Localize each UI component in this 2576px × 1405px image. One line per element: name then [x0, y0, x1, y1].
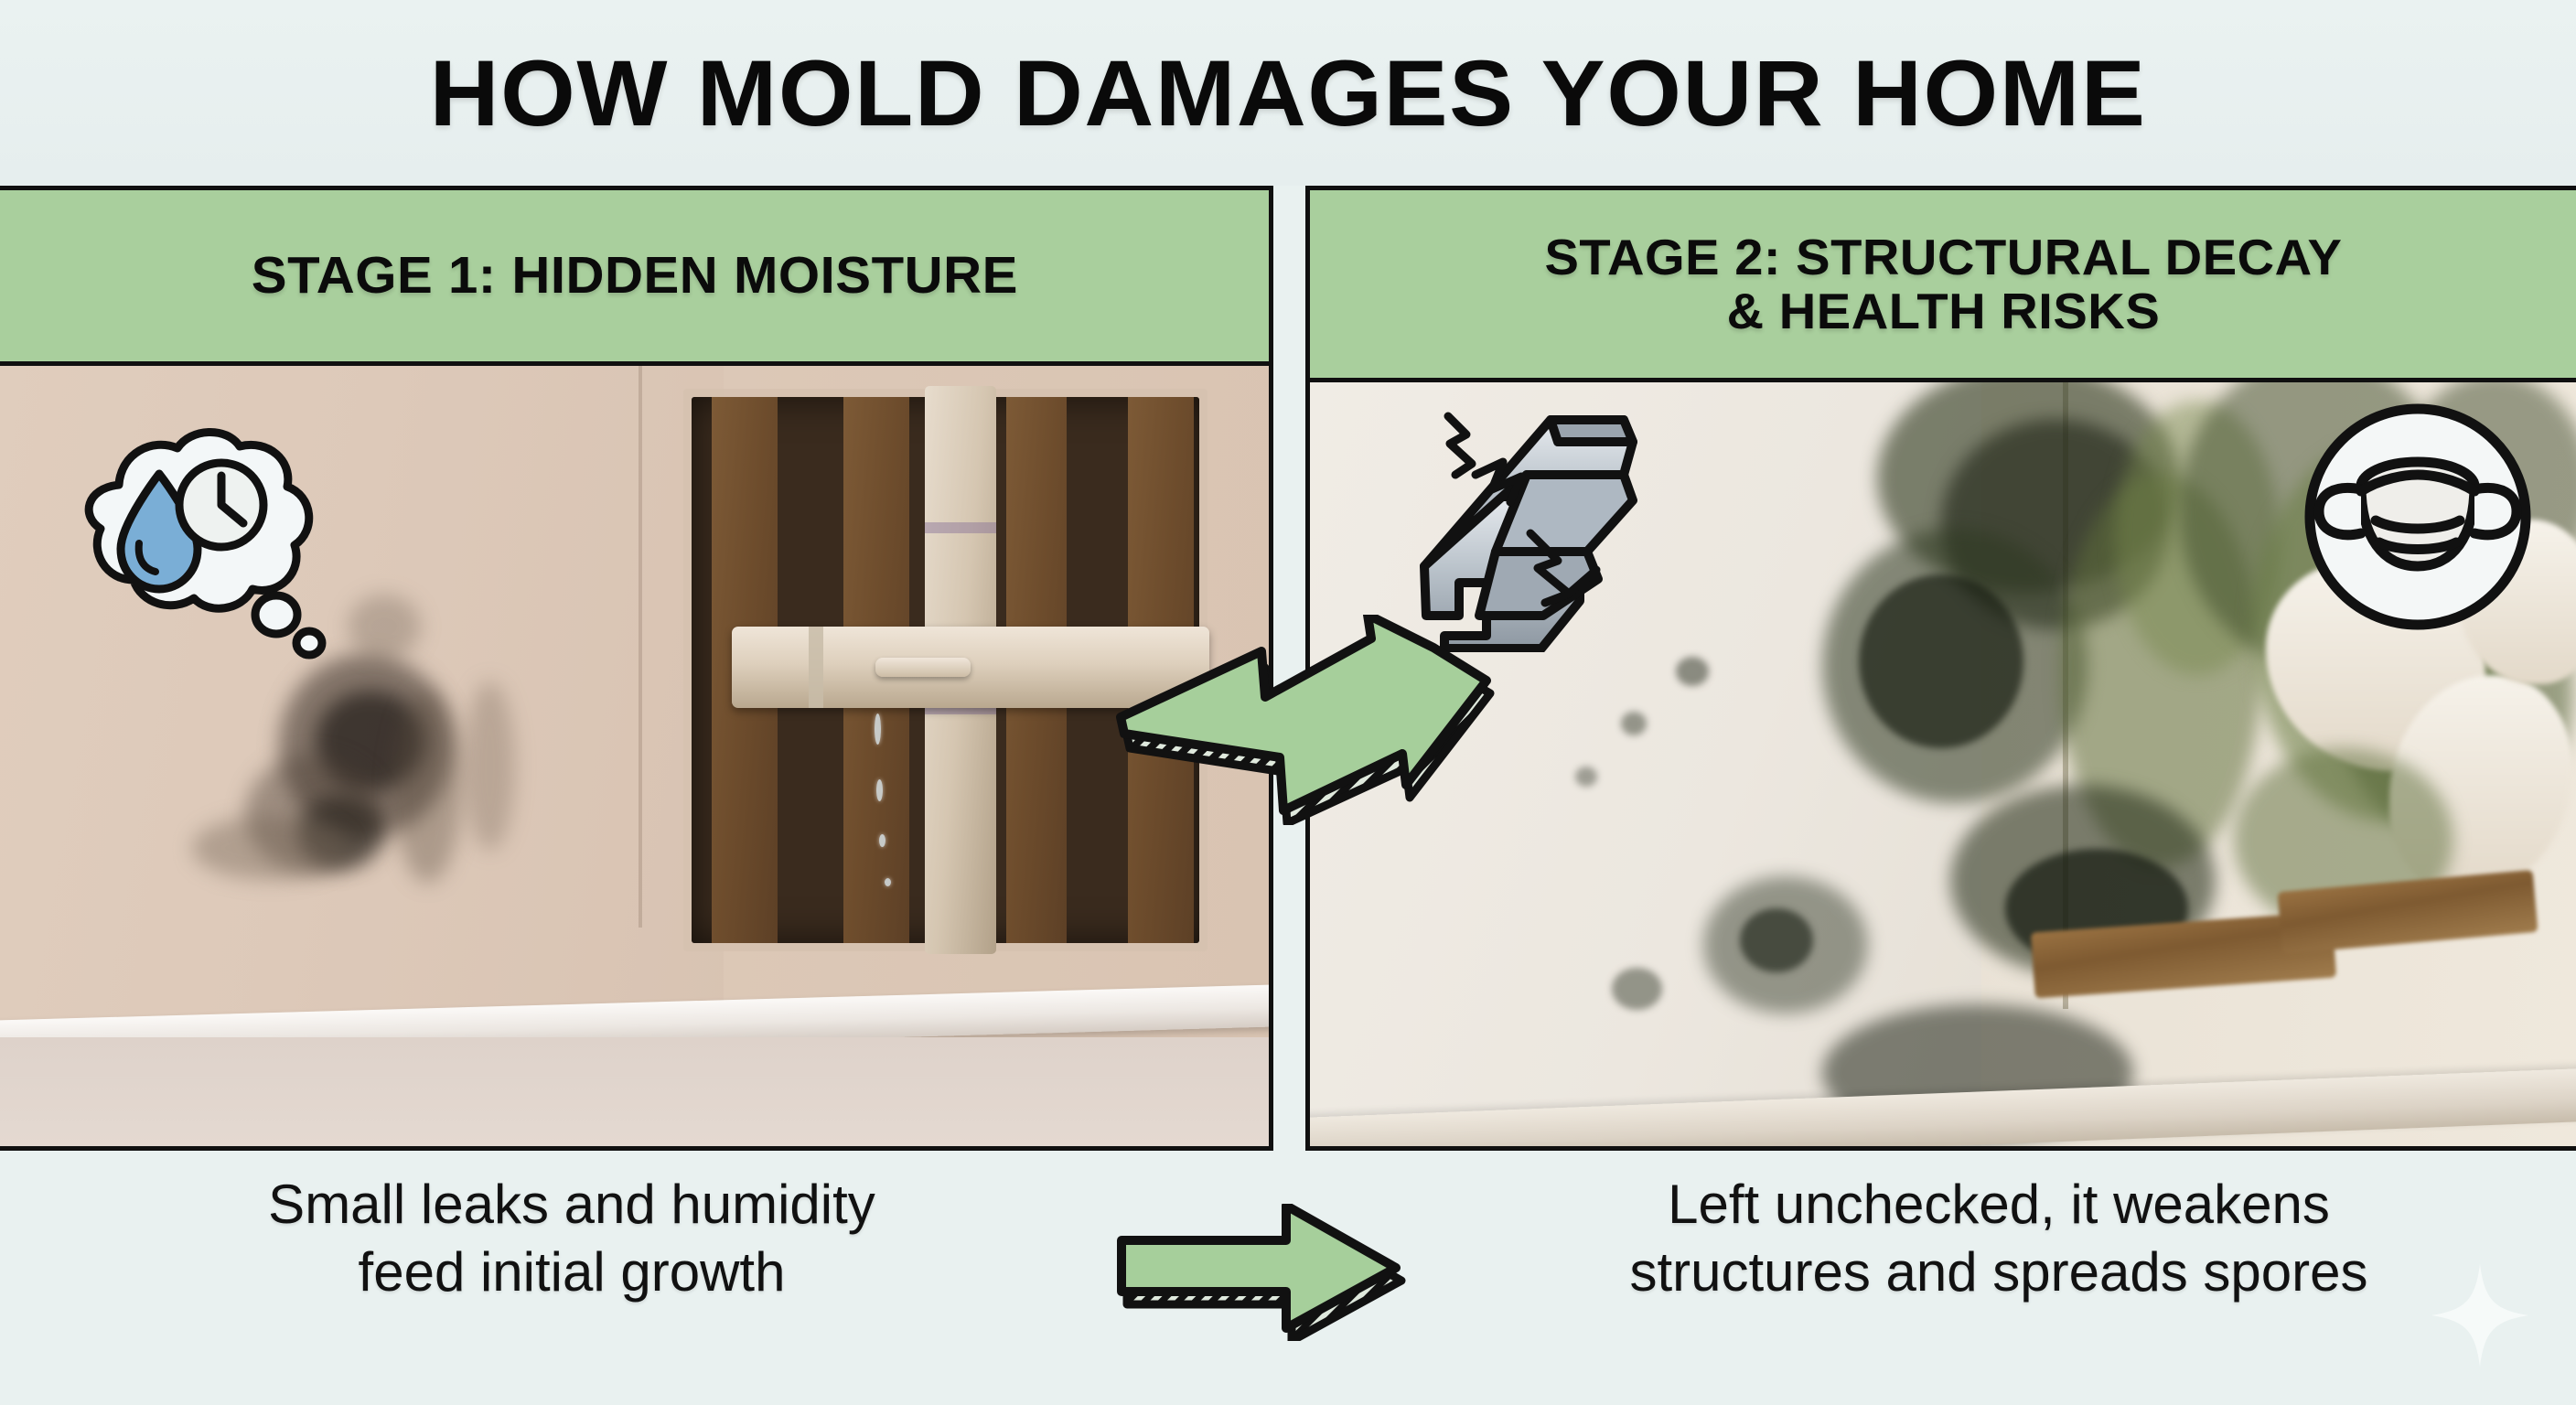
cracked-beam-icon [1388, 387, 1671, 652]
stage-1-header: STAGE 1: HIDDEN MOISTURE [0, 190, 1269, 366]
stage-1-caption: Small leaks and humidity feed initial gr… [55, 1171, 1089, 1306]
caption-transition-arrow [1112, 1204, 1414, 1341]
pipe-t-joint [875, 658, 971, 677]
thought-bubble-water-drop-clock-icon [64, 421, 329, 668]
stage-1-caption-line1: Small leaks and humidity [268, 1174, 875, 1235]
stage-1-header-label: STAGE 1: HIDDEN MOISTURE [251, 248, 1017, 303]
mold-stain [465, 681, 515, 851]
stage-2-header-line2: & HEALTH RISKS [1726, 283, 2160, 339]
stage-2-header-label: STAGE 2: STRUCTURAL DECAY & HEALTH RISKS [1544, 231, 2342, 338]
four-point-sparkle-icon [2431, 1264, 2528, 1367]
stage-1-caption-line2: feed initial growth [359, 1241, 786, 1303]
floor [0, 1037, 1269, 1146]
stage-2-caption: Left unchecked, it weakens structures an… [1464, 1171, 2534, 1306]
stage-1-panel: STAGE 1: HIDDEN MOISTURE [0, 186, 1273, 1151]
stage-1-photo [0, 366, 1269, 1146]
stage-2-header: STAGE 2: STRUCTURAL DECAY & HEALTH RISKS [1310, 190, 2576, 382]
mold-speck [1740, 908, 1813, 972]
stage-2-header-line1: STAGE 2: STRUCTURAL DECAY [1544, 229, 2342, 285]
mold-stain [393, 691, 462, 883]
wall-corner-seam [639, 366, 642, 928]
water-drip [875, 713, 881, 745]
stage-transition-arrow [1108, 615, 1501, 825]
mold-stain [192, 816, 348, 880]
page-title: HOW MOLD DAMAGES YOUR HOME [430, 47, 2147, 140]
face-mask-icon [2297, 396, 2539, 638]
stage-2-caption-line2: structures and spreads spores [1629, 1241, 2367, 1303]
title-bar: HOW MOLD DAMAGES YOUR HOME [0, 0, 2576, 186]
mold-bloom [1859, 574, 2023, 748]
pipe-band [925, 522, 996, 533]
stage-2-caption-line1: Left unchecked, it weakens [1668, 1174, 2330, 1235]
mold-stain [348, 595, 421, 659]
mold-speck [1612, 968, 1662, 1010]
mold-speck [1676, 657, 1709, 686]
pipe-band [809, 627, 823, 709]
mold-speck [1575, 767, 1597, 787]
water-drip [885, 878, 891, 886]
mold-speck [1621, 712, 1647, 735]
